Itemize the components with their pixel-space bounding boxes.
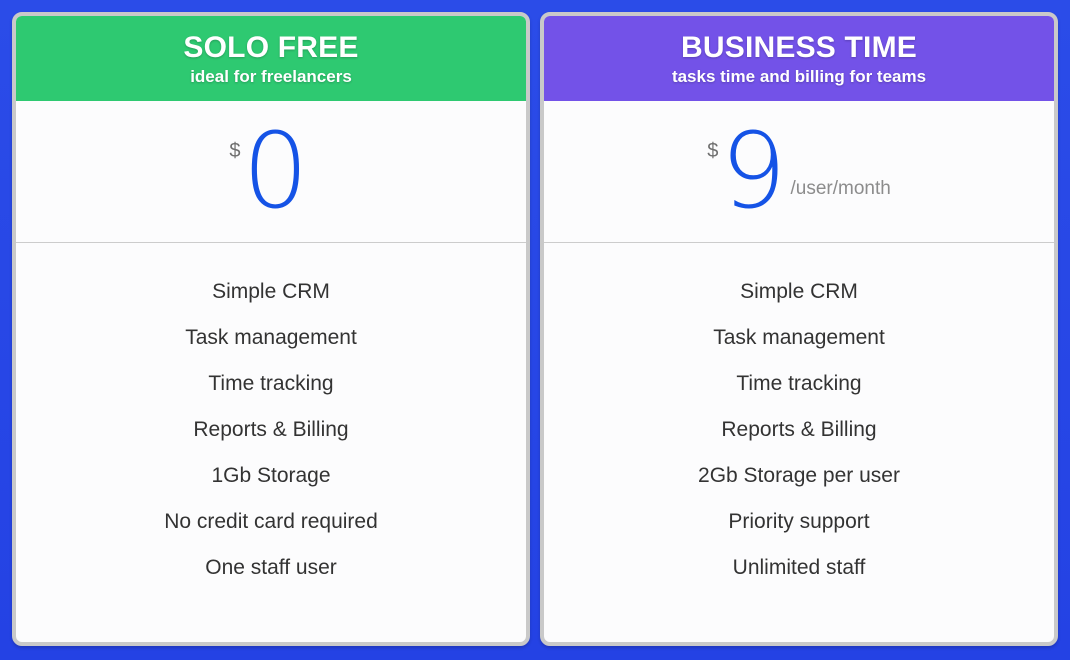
feature-item: Simple CRM [740,281,858,302]
price-period: /user/month [790,179,890,198]
feature-item: Reports & Billing [721,419,876,440]
plan-header-solo-free: SOLO FREE ideal for freelancers [16,16,526,101]
plan-card-business-time[interactable]: BUSINESS TIME tasks time and billing for… [540,12,1058,646]
price-row: $ 0 [229,127,312,216]
feature-item: No credit card required [164,511,378,532]
feature-item: Priority support [728,511,869,532]
plan-title: BUSINESS TIME [681,32,917,64]
feature-item: Simple CRM [212,281,330,302]
feature-item: Task management [185,327,357,348]
feature-item: Time tracking [736,373,861,394]
feature-item: Task management [713,327,885,348]
pricing-plans-container: SOLO FREE ideal for freelancers $ 0 Simp… [0,0,1070,660]
price-amount: 9 [720,127,784,216]
plan-header-business-time: BUSINESS TIME tasks time and billing for… [544,16,1054,101]
feature-item: Time tracking [208,373,333,394]
plan-price-block-solo-free: $ 0 [16,101,526,243]
currency-symbol: $ [229,141,240,161]
currency-symbol: $ [707,141,718,161]
plan-subtitle: tasks time and billing for teams [672,67,926,87]
plan-price-block-business-time: $ 9 /user/month [544,101,1054,243]
feature-item: Reports & Billing [193,419,348,440]
feature-item: One staff user [205,557,337,578]
plan-card-solo-free[interactable]: SOLO FREE ideal for freelancers $ 0 Simp… [12,12,530,646]
feature-item: 2Gb Storage per user [698,465,900,486]
plan-features-solo-free: Simple CRM Task management Time tracking… [16,243,526,642]
price-row: $ 9 /user/month [707,127,891,216]
plan-subtitle: ideal for freelancers [190,67,352,87]
feature-item: Unlimited staff [733,557,866,578]
plan-features-business-time: Simple CRM Task management Time tracking… [544,243,1054,642]
feature-item: 1Gb Storage [211,465,330,486]
plan-title: SOLO FREE [183,32,358,64]
price-amount: 0 [242,127,306,216]
